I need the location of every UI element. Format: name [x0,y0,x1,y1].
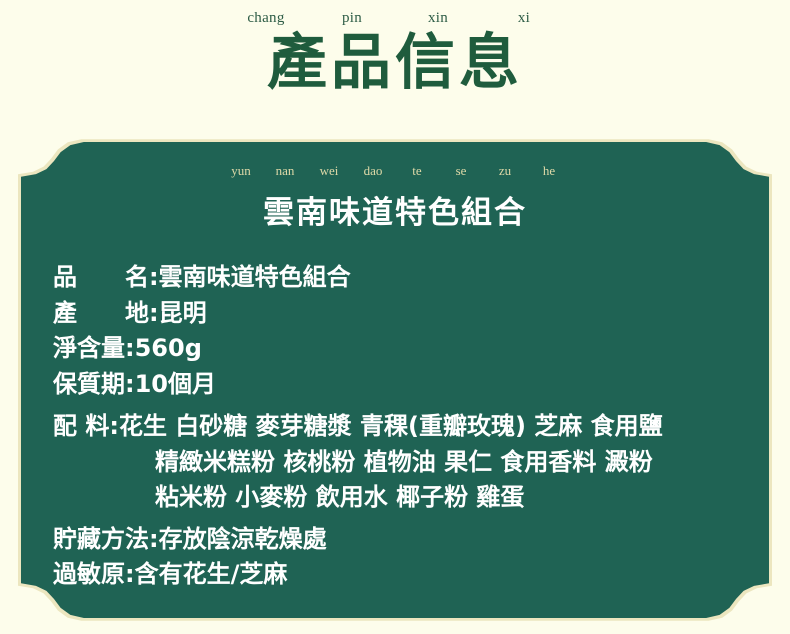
ingredients-line-1: 花生 白砂糖 麥芽糖漿 青稞(重瓣玫瑰) 芝麻 食用鹽 [119,409,663,445]
field-value: 雲南味道特色組合 [159,260,351,296]
field-label: 配 料: [53,409,119,445]
page-title: 產品信息 [0,32,790,95]
pinyin-syllable: pin [309,11,395,26]
storage-and-allergen: 貯藏方法: 存放陰涼乾燥處 過敏原: 含有花生/芝麻 [53,522,752,593]
pinyin-syllable: te [395,164,439,177]
pinyin-syllable: dao [351,164,395,177]
pinyin-syllable: xin [395,11,481,26]
card-content: yun nan wei dao te se zu he 雲南味道特色組合 品 名… [18,126,772,634]
pinyin-syllable: se [439,164,483,177]
ingredients-line: 配 料: 花生 白砂糖 麥芽糖漿 青稞(重瓣玫瑰) 芝麻 食用鹽 [53,409,752,445]
product-info-page: { "page": { "background_color": "#fdfdeb… [0,0,790,634]
field-label: 貯藏方法: [53,522,159,558]
field-row-shelf-life: 保質期: 10個月 [53,367,752,403]
card-heading-pinyin: yun nan wei dao te se zu he [18,126,772,177]
field-value: 昆明 [159,296,207,332]
field-row-net-weight: 淨含量: 560g [53,331,752,367]
pinyin-syllable: yun [219,164,263,177]
ingredients-line-3: 粘米粉 小麥粉 飲用水 椰子粉 雞蛋 [53,480,752,516]
field-row-product-name: 品 名: 雲南味道特色組合 [53,260,752,296]
pinyin-syllable: xi [481,11,567,26]
field-row-storage: 貯藏方法: 存放陰涼乾燥處 [53,522,752,558]
ingredients-line-2: 精緻米糕粉 核桃粉 植物油 果仁 食用香料 澱粉 [53,445,752,481]
pinyin-syllable: he [527,164,571,177]
field-row-allergen: 過敏原: 含有花生/芝麻 [53,557,752,593]
field-label: 淨含量: [53,331,135,367]
pinyin-syllable: wei [307,164,351,177]
field-label: 保質期: [53,367,135,403]
pinyin-syllable: nan [263,164,307,177]
pinyin-syllable: chang [223,11,309,26]
pinyin-syllable: zu [483,164,527,177]
card-heading: 雲南味道特色組合 [18,187,772,232]
field-value: 10個月 [135,367,216,403]
field-value: 存放陰涼乾燥處 [159,522,327,558]
field-label: 過敏原: [53,557,135,593]
field-row-ingredients: 配 料: 花生 白砂糖 麥芽糖漿 青稞(重瓣玫瑰) 芝麻 食用鹽 精緻米糕粉 核… [53,409,752,516]
page-title-pinyin: chang pin xin xi [0,0,790,26]
field-value: 560g [135,331,202,367]
field-value: 含有花生/芝麻 [135,557,288,593]
product-fields: 品 名: 雲南味道特色組合 產 地: 昆明 淨含量: 560g 保質期: 10個… [18,260,772,593]
field-row-origin: 產 地: 昆明 [53,296,752,332]
field-label: 品 名: [53,260,159,296]
product-info-card: yun nan wei dao te se zu he 雲南味道特色組合 品 名… [18,126,772,634]
field-label: 產 地: [53,296,159,332]
page-header: chang pin xin xi 產品信息 [0,0,790,126]
